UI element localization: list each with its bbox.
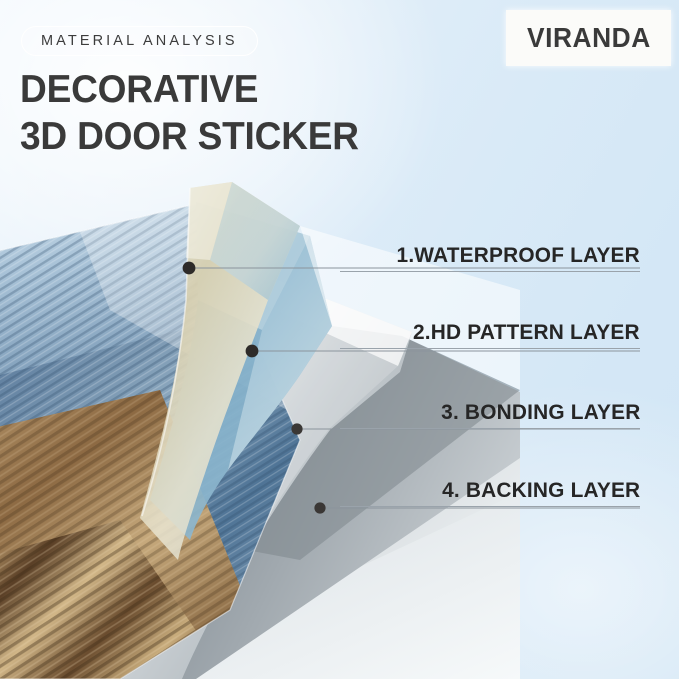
material-analysis-poster: MATERIAL ANALYSIS DECORATIVE 3D DOOR STI… — [0, 0, 679, 679]
callout-waterproof-layer: 1.WATERPROOF LAYER — [340, 243, 640, 272]
callout-label-1: 1.WATERPROOF LAYER — [397, 243, 640, 268]
eyebrow-label: MATERIAL ANALYSIS — [41, 33, 238, 49]
brand-logo-plate: VIRANDA — [506, 10, 671, 66]
callout-label-3: 3. BONDING LAYER — [441, 400, 640, 425]
page-title-line2: 3D DOOR STICKER — [20, 113, 359, 160]
brand-name: VIRANDA — [527, 22, 651, 54]
eyebrow-badge: MATERIAL ANALYSIS — [21, 26, 258, 56]
callout-hd-pattern-layer: 2.HD PATTERN LAYER — [340, 320, 640, 349]
callout-backing-layer: 4. BACKING LAYER — [340, 478, 640, 507]
callout-bonding-layer: 3. BONDING LAYER — [340, 400, 640, 429]
callout-label-4: 4. BACKING LAYER — [442, 478, 640, 503]
page-title: DECORATIVE 3D DOOR STICKER — [20, 66, 359, 160]
callout-label-2: 2.HD PATTERN LAYER — [413, 320, 640, 345]
page-title-line1: DECORATIVE — [20, 68, 258, 111]
